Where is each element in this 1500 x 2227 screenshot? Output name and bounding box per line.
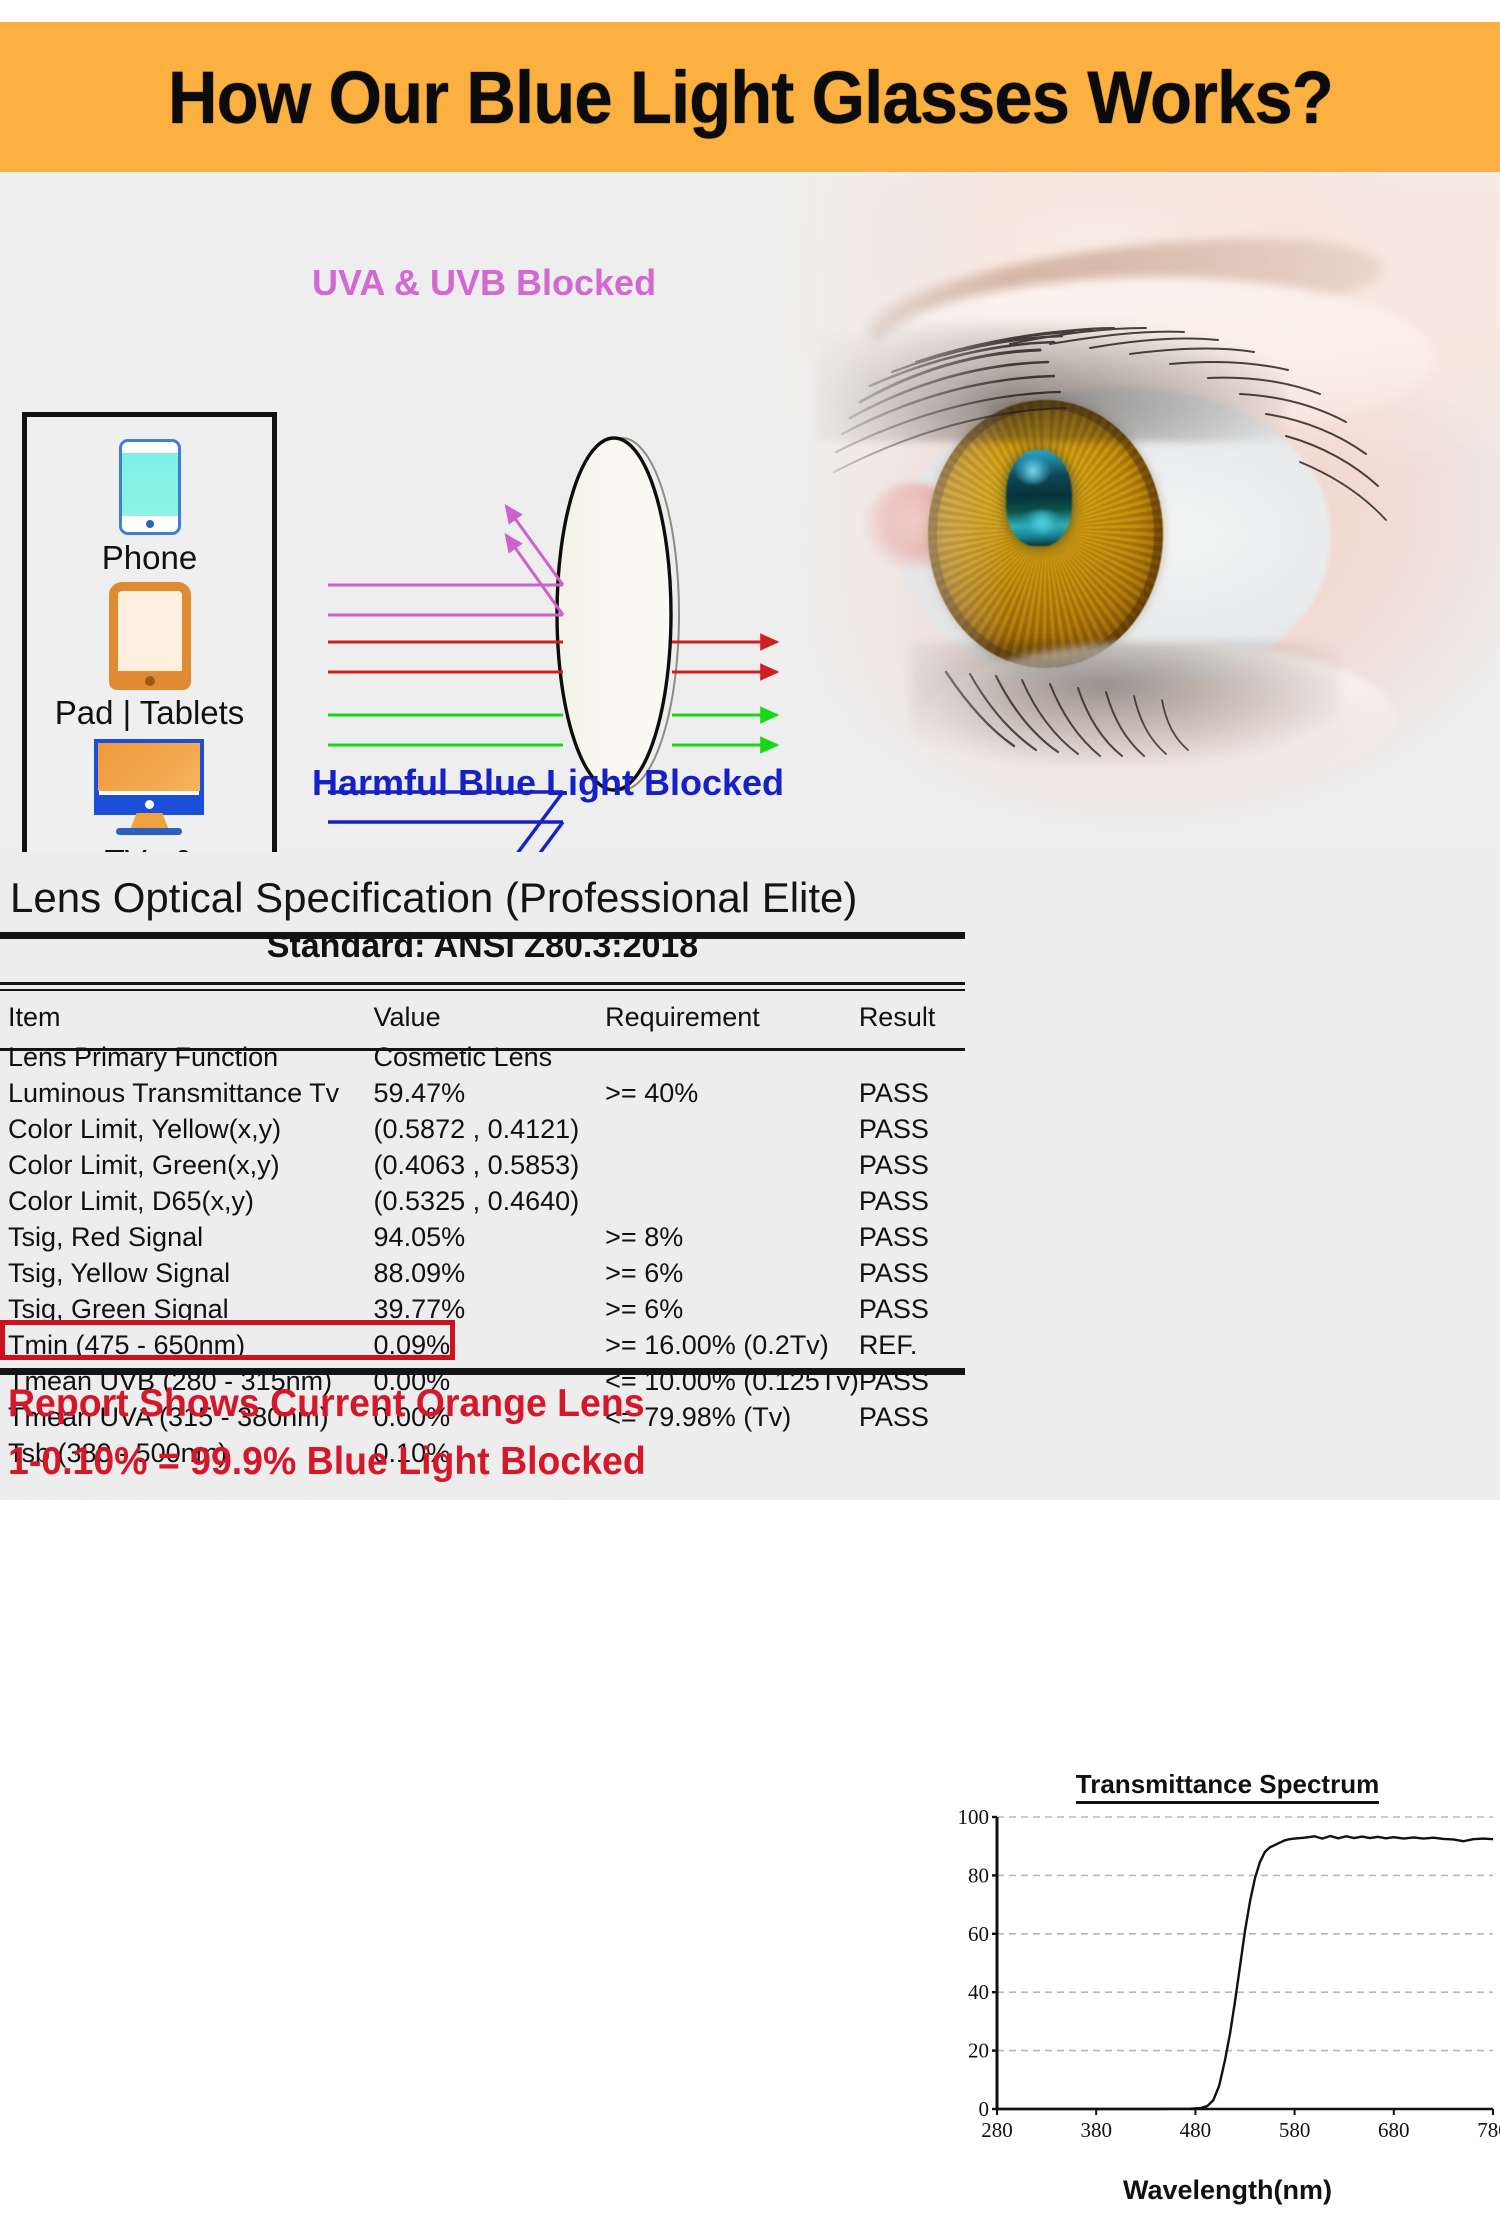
chart-plot: 020406080100280380480580680780	[955, 1809, 1500, 2169]
table-row: Luminous Transmittance Tv59.47%>= 40%PAS…	[0, 1075, 965, 1111]
cell-item: Color Limit, Yellow(x,y)	[0, 1111, 374, 1147]
uv-blocked-label: UVA & UVB Blocked	[312, 262, 656, 304]
table-row: Tsig, Yellow Signal88.09%>= 6%PASS	[0, 1255, 965, 1291]
col-header-item: Item	[0, 999, 374, 1039]
note-line-2: 1-0.10% = 99.9% Blue Light Blocked	[8, 1440, 646, 1484]
col-header-result: Result	[859, 999, 965, 1039]
cell-result: PASS	[859, 1291, 965, 1327]
divider-header-upper2	[0, 989, 965, 991]
cell-value: 39.77%	[374, 1291, 606, 1327]
col-header-requirement: Requirement	[605, 999, 859, 1039]
table-row: Tsig, Red Signal94.05%>= 8%PASS	[0, 1219, 965, 1255]
tablet-icon	[109, 582, 191, 690]
cell-result: PASS	[859, 1183, 965, 1219]
spec-panel: Lens Optical Specification (Professional…	[0, 852, 1500, 1500]
blue-blocked-label: Harmful Blue Light Blocked	[312, 762, 784, 804]
cell-value: 59.47%	[374, 1075, 606, 1111]
svg-text:40: 40	[968, 1980, 989, 2004]
device-item-tablet: Pad | Tablets	[55, 582, 245, 735]
cell-value: 0.09%	[374, 1327, 606, 1363]
col-header-value: Value	[374, 999, 606, 1039]
cell-requirement: >= 16.00% (0.2Tv)	[605, 1327, 859, 1363]
monitor-icon	[94, 739, 204, 839]
svg-text:280: 280	[981, 2118, 1013, 2142]
svg-text:20: 20	[968, 2039, 989, 2063]
table-row: Color Limit, D65(x,y)(0.5325 , 0.4640)PA…	[0, 1183, 965, 1219]
cell-requirement	[605, 1147, 859, 1183]
chart-title: Transmittance Spectrum	[955, 1769, 1500, 1800]
cell-item: Tsig, Green Signal	[0, 1291, 374, 1327]
device-item-phone: Phone	[102, 439, 197, 580]
cell-item: Tmin (475 - 650nm)	[0, 1327, 374, 1363]
table-header-row: Item Value Requirement Result	[0, 999, 965, 1039]
phone-icon	[119, 439, 181, 535]
device-label-monitor: TVs & Computers	[69, 845, 230, 852]
device-label-tablet: Pad | Tablets	[55, 696, 245, 731]
cell-result: PASS	[859, 1399, 965, 1435]
cell-requirement: >= 8%	[605, 1219, 859, 1255]
table-row: Tsig, Green Signal39.77%>= 6%PASS	[0, 1291, 965, 1327]
svg-text:380: 380	[1080, 2118, 1112, 2142]
cell-requirement: >= 6%	[605, 1291, 859, 1327]
device-label-phone: Phone	[102, 541, 197, 576]
table-row: Color Limit, Green(x,y)(0.4063 , 0.5853)…	[0, 1147, 965, 1183]
svg-text:100: 100	[958, 1809, 990, 1829]
cell-item: Luminous Transmittance Tv	[0, 1075, 374, 1111]
cell-result: PASS	[859, 1219, 965, 1255]
cell-result: REF.	[859, 1327, 965, 1363]
note-line-1: Report Shows Current Orange Lens	[8, 1382, 645, 1426]
chart-x-axis-label: Wavelength(nm)	[955, 2175, 1500, 2206]
svg-text:680: 680	[1378, 2118, 1410, 2142]
cell-result: PASS	[859, 1147, 965, 1183]
cell-requirement: >= 40%	[605, 1075, 859, 1111]
cell-item: Color Limit, D65(x,y)	[0, 1183, 374, 1219]
svg-text:580: 580	[1279, 2118, 1311, 2142]
cell-item: Tsig, Yellow Signal	[0, 1255, 374, 1291]
cell-value: (0.5325 , 0.4640)	[374, 1183, 606, 1219]
table-row: Tmin (475 - 650nm)0.09%>= 16.00% (0.2Tv)…	[0, 1327, 965, 1363]
cell-result: PASS	[859, 1255, 965, 1291]
illustration-panel: Phone Pad | Tablets TVs & Computers	[0, 172, 1500, 852]
cell-item: Lens Primary Function	[0, 1039, 374, 1075]
cell-value: (0.5872 , 0.4121)	[374, 1111, 606, 1147]
cell-result	[859, 1435, 965, 1471]
divider-bottom	[0, 1368, 965, 1375]
transmittance-chart: Transmittance Spectrum 02040608010028038…	[955, 1757, 1500, 2227]
table-row: Lens Primary FunctionCosmetic Lens	[0, 1039, 965, 1075]
device-item-monitor: TVs & Computers	[69, 739, 230, 852]
eye-photo	[710, 172, 1500, 852]
cell-value: (0.4063 , 0.5853)	[374, 1147, 606, 1183]
page-title: How Our Blue Light Glasses Works?	[168, 55, 1333, 140]
svg-text:80: 80	[968, 1863, 989, 1887]
cell-value: 88.09%	[374, 1255, 606, 1291]
svg-text:480: 480	[1180, 2118, 1212, 2142]
cell-item: Tsig, Red Signal	[0, 1219, 374, 1255]
cell-value: 94.05%	[374, 1219, 606, 1255]
cell-item: Color Limit, Green(x,y)	[0, 1147, 374, 1183]
header-banner: How Our Blue Light Glasses Works?	[0, 22, 1500, 172]
cell-requirement	[605, 1039, 859, 1075]
svg-text:780: 780	[1477, 2118, 1500, 2142]
cell-result: PASS	[859, 1075, 965, 1111]
cell-requirement	[605, 1183, 859, 1219]
table-row: Color Limit, Yellow(x,y)(0.5872 , 0.4121…	[0, 1111, 965, 1147]
cell-value: Cosmetic Lens	[374, 1039, 606, 1075]
cell-requirement	[605, 1111, 859, 1147]
cell-result: PASS	[859, 1111, 965, 1147]
device-list-box: Phone Pad | Tablets TVs & Computers	[22, 412, 277, 852]
cell-result	[859, 1039, 965, 1075]
standard-label: Standard: ANSI Z80.3:2018	[0, 927, 965, 966]
svg-text:60: 60	[968, 1922, 989, 1946]
divider-header-upper	[0, 982, 965, 985]
spec-title: Lens Optical Specification (Professional…	[10, 874, 857, 922]
cell-requirement: >= 6%	[605, 1255, 859, 1291]
divider-header-lower	[0, 1048, 965, 1051]
